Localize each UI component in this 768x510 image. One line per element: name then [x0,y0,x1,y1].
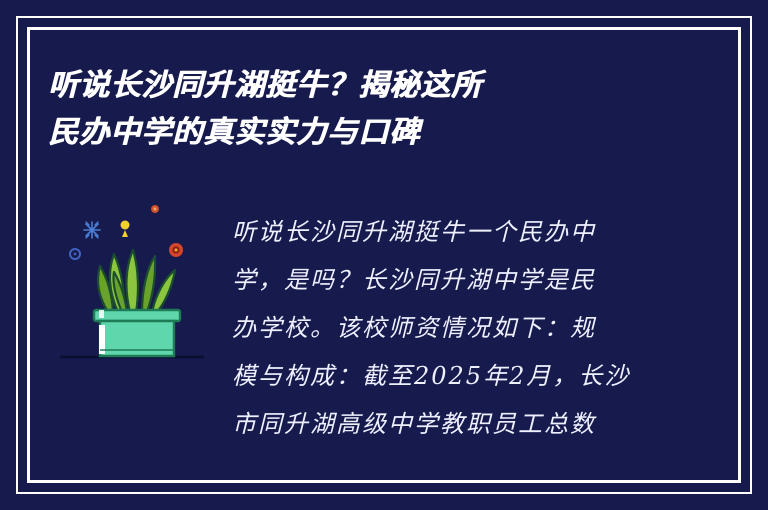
body-line-2: 学，是吗？长沙同升湖中学是民 [232,256,652,304]
plant-illustration [52,192,222,377]
title-line-2: 民办中学的真实实力与口碑 [48,109,668,156]
body-line-5: 市同升湖高级中学教职员工总数 [232,400,652,448]
body-line-4: 模与构成：截至2025年2月，长沙 [232,352,652,400]
poster-canvas: 听说长沙同升湖挺牛？揭秘这所 民办中学的真实实力与口碑 [0,0,768,510]
ring-sparkle-blue [70,249,80,259]
title-line-1: 听说长沙同升湖挺牛？揭秘这所 [48,62,668,109]
plant-leaves [98,250,175,312]
plant-pot [94,310,180,356]
page-title: 听说长沙同升湖挺牛？揭秘这所 民办中学的真实实力与口碑 [48,62,668,156]
dot-sparkle-yellow [121,221,130,238]
dot-sparkle-orange [151,205,159,213]
snowflake-sparkle [84,222,100,238]
flower-sparkle-red [169,243,183,257]
body-line-3: 办学校。该校师资情况如下：规 [232,304,652,352]
body-paragraph: 听说长沙同升湖挺牛一个民办中 学，是吗？长沙同升湖中学是民 办学校。该校师资情况… [232,208,652,448]
body-line-1: 听说长沙同升湖挺牛一个民办中 [232,208,652,256]
